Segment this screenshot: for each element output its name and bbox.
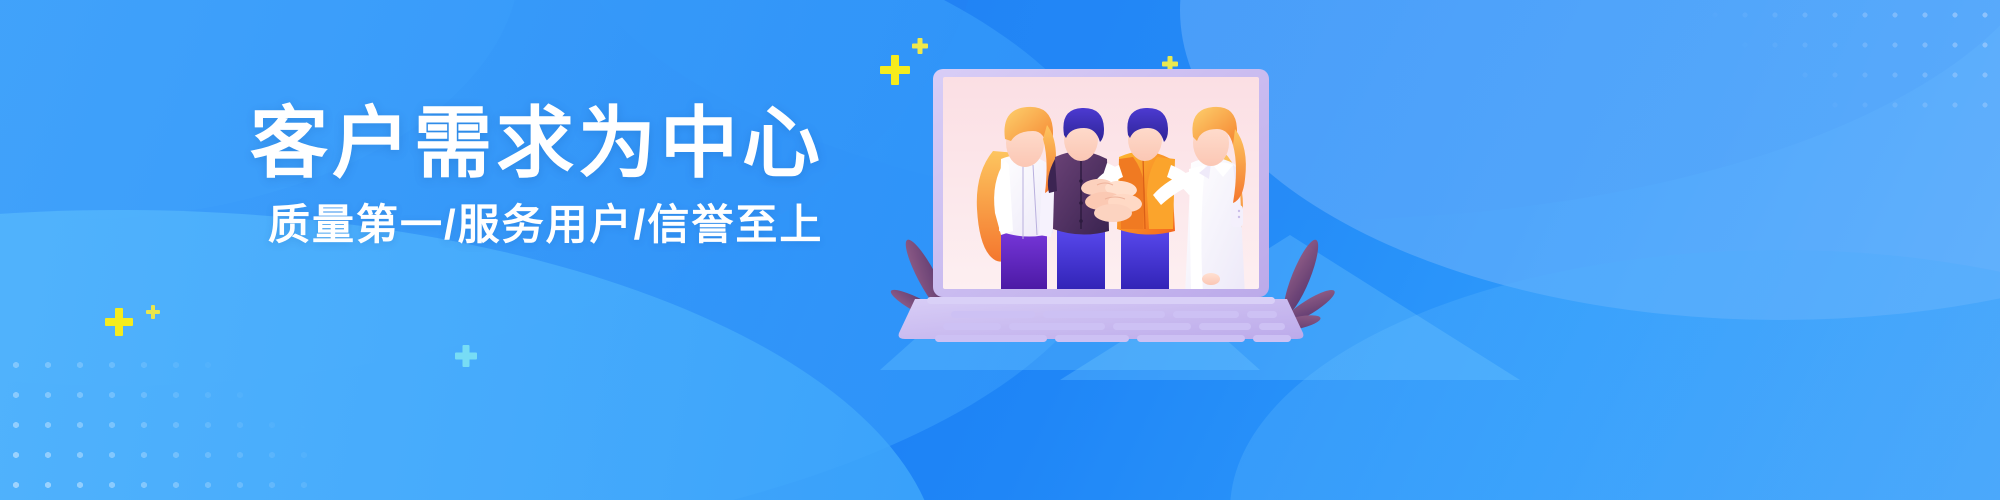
page-title: 客户需求为中心 — [250, 104, 870, 182]
banner-subtitle: 质量第一/服务用户/信誉至上 — [268, 204, 870, 246]
banner-copy: 客户需求为中心 质量第一/服务用户/信誉至上 — [250, 104, 870, 246]
laptop-keyboard — [935, 311, 1291, 342]
plus-yellow-bottom-icon — [105, 308, 133, 336]
plus-cyan-bottom-icon — [455, 345, 477, 367]
dot-grid-bottom-left-icon — [0, 350, 330, 500]
promo-banner: 客户需求为中心 质量第一/服务用户/信誉至上 — [0, 0, 2000, 500]
background-wave-6 — [1230, 250, 2000, 500]
dot-grid-top-right-icon — [1700, 0, 2000, 120]
laptop-base — [899, 299, 1304, 339]
laptop-hinge — [927, 297, 1275, 304]
laptop-team-illustration — [905, 55, 1325, 355]
plus-yellow-small-icon — [912, 38, 928, 54]
plus-yellow-bottom-small-icon — [146, 305, 160, 319]
background-wave-3 — [0, 210, 940, 500]
